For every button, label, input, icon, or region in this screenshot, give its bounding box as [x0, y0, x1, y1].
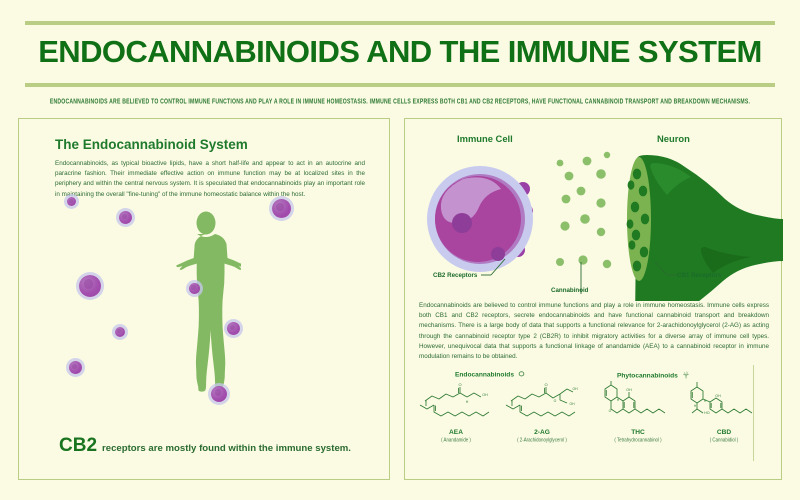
immune-cell-dot — [189, 283, 200, 294]
svg-text:H: H — [466, 400, 469, 404]
svg-text:O: O — [609, 409, 612, 413]
droplet-icon — [518, 370, 525, 379]
svg-text:O: O — [554, 399, 557, 403]
compound-name: CBD — [681, 429, 767, 436]
phytocannabinoids-group-label: Phytocannabinoids — [617, 372, 678, 379]
anandamide-structure: O H OH — [413, 381, 499, 427]
cbd-structure: OH HO H H — [681, 381, 767, 427]
immune-cell-dot — [227, 322, 240, 335]
header-rule-top — [25, 21, 775, 25]
compound-subname: ( Cannabidiol ) — [681, 436, 767, 442]
svg-text:OH: OH — [569, 402, 575, 406]
immune-cell-dot — [67, 197, 76, 206]
compound-subname: ( 2-Arachidonoylglycerol ) — [499, 436, 585, 442]
cannabis-leaf-icon — [682, 370, 690, 381]
left-panel: The Endocannabinoid System Endocannabino… — [18, 118, 390, 480]
infographic-page: ENDOCANNABINOIDS AND THE IMMUNE SYSTEM E… — [0, 0, 800, 500]
immune-cell-dot — [69, 361, 82, 374]
compound-name: AEA — [413, 429, 499, 436]
2-ag-structure: O O OH OH — [499, 381, 585, 427]
endocannabinoids-group-label: Endocannabinoids — [455, 371, 514, 378]
compound-name: THC — [595, 429, 681, 436]
endocannabinoids-group-heading: Endocannabinoids — [455, 370, 525, 379]
left-panel-heading: The Endocannabinoid System — [55, 137, 248, 152]
compound-2ag: O O OH OH 2-AG ( 2-Arachidonoylglycerol … — [499, 381, 585, 442]
human-figure-area — [19, 191, 391, 423]
header-rule-bottom — [25, 83, 775, 87]
svg-text:OH: OH — [482, 393, 488, 397]
compound-aea: O H OH AEA ( Anandamide ) — [413, 381, 499, 442]
cannabinoid-callout: Cannabinoid — [551, 287, 588, 294]
svg-text:H: H — [704, 399, 707, 403]
compound-thc: OH H O THC ( Tetrahydrocannabinol ) — [595, 381, 681, 442]
compound-subname: ( Tetrahydrocannabinol ) — [595, 436, 681, 442]
svg-text:OH: OH — [626, 388, 632, 392]
compound-cbd: OH HO H H CBD ( Cannabidiol ) — [681, 381, 767, 442]
human-body-silhouette — [171, 209, 241, 405]
cannabinoid-dots — [556, 152, 611, 268]
phytocannabinoids-group-heading: Phytocannabinoids — [617, 370, 690, 381]
svg-text:H: H — [694, 404, 697, 408]
immune-cell-organelle — [491, 247, 505, 261]
thc-structure: OH H O — [595, 381, 681, 427]
page-title: ENDOCANNABINOIDS AND THE IMMUNE SYSTEM — [0, 28, 800, 76]
cb2-callout-emphasis: CB2 — [59, 435, 97, 456]
svg-text:HO: HO — [704, 411, 710, 415]
svg-text:OH: OH — [572, 387, 578, 391]
immune-cell-dot — [79, 275, 101, 297]
immune-cell-dot — [272, 199, 291, 218]
immune-cell-dot — [119, 211, 132, 224]
cb2-callout-text: receptors are mostly found within the im… — [102, 443, 351, 454]
svg-text:O: O — [544, 382, 547, 387]
immune-cell-dot — [211, 386, 227, 402]
right-panel-body: Endocannabinoids are believed to control… — [419, 301, 769, 362]
cb1-receptors-callout: CB1 Receptors — [677, 272, 721, 279]
header-subtitle: ENDOCANNABINOIDS ARE BELIEVED TO CONTROL… — [0, 98, 800, 106]
immune-cell-dot — [115, 327, 125, 337]
immune-cell-organelle — [452, 213, 472, 233]
compound-name: 2-AG — [499, 429, 585, 436]
svg-text:OH: OH — [715, 394, 721, 398]
cb2-receptors-callout: CB2 Receptors — [433, 272, 477, 279]
svg-text:O: O — [458, 382, 461, 387]
compound-subname: ( Anandamide ) — [413, 436, 499, 442]
cb2-callout: CB2receptors are mostly found within the… — [19, 435, 391, 457]
chemistry-grid: O H OH AEA ( Anandamide ) — [413, 381, 773, 461]
right-panel: Immune Cell Neuron — [404, 118, 782, 480]
